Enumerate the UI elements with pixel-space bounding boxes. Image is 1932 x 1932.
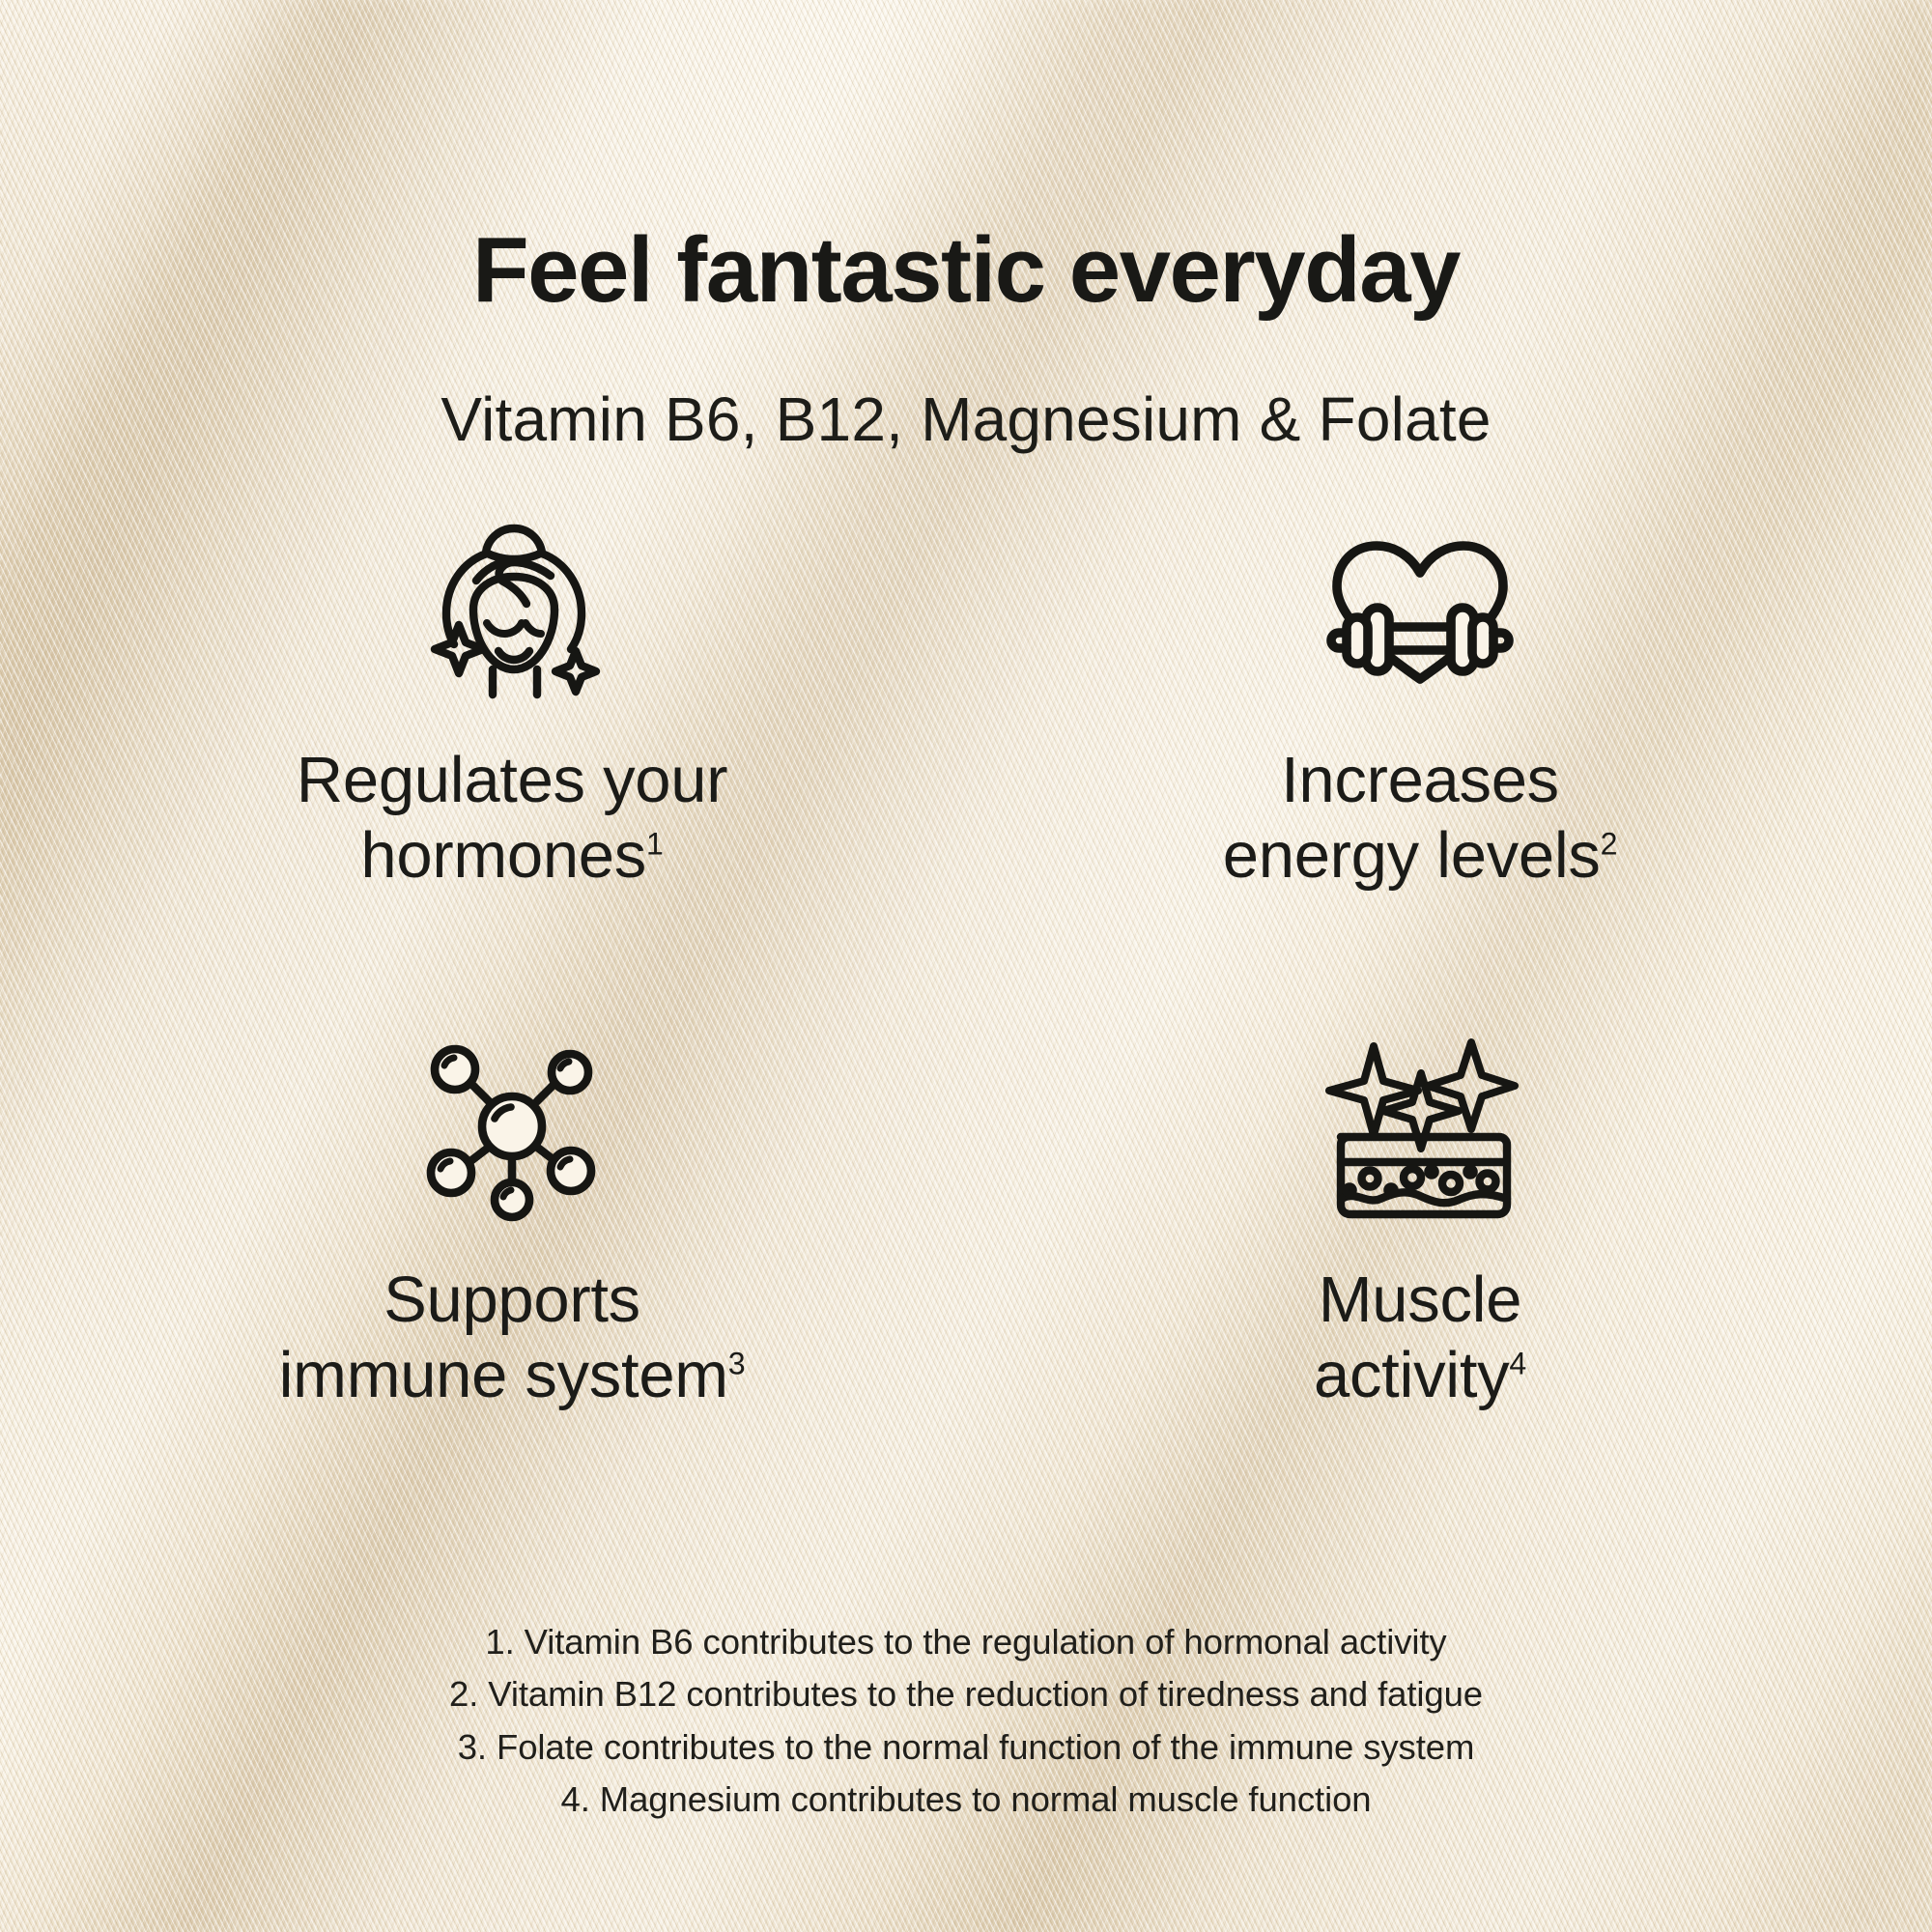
- benefit-label-line1: Supports: [384, 1264, 640, 1336]
- footnote-line: 2. Vitamin B12 contributes to the reduct…: [0, 1668, 1932, 1720]
- benefit-item-immune: Supports immune system3: [58, 1022, 966, 1428]
- footnote-line: 4. Magnesium contributes to normal muscl…: [0, 1774, 1932, 1826]
- heart-dumbbell-icon: [1325, 502, 1515, 710]
- footnote-marker: 3: [728, 1347, 746, 1381]
- molecule-icon: [415, 1022, 609, 1230]
- benefits-grid: Regulates your hormones1: [58, 502, 1874, 1428]
- footnotes-block: 1. Vitamin B6 contributes to the regulat…: [0, 1616, 1932, 1827]
- benefit-label-muscle: Muscle activity4: [1314, 1263, 1526, 1414]
- benefit-item-energy: Increases energy levels2: [966, 502, 1874, 908]
- footnote-marker: 4: [1509, 1347, 1526, 1381]
- benefit-label-line2: immune system: [279, 1339, 728, 1411]
- benefit-label-line1: Muscle: [1319, 1264, 1521, 1336]
- benefit-label-line1: Regulates your: [297, 744, 727, 816]
- benefit-label-immune: Supports immune system3: [279, 1263, 746, 1414]
- footnote-marker: 1: [646, 827, 664, 862]
- benefit-label-line1: Increases: [1281, 744, 1559, 816]
- benefit-label-line2: hormones: [360, 819, 646, 892]
- benefit-label-line2: energy levels: [1223, 819, 1601, 892]
- benefit-label-hormones: Regulates your hormones1: [297, 743, 727, 895]
- page-title: Feel fantastic everyday: [0, 224, 1932, 317]
- benefit-label-line2: activity: [1314, 1339, 1509, 1411]
- skin-tissue-sparkle-icon: [1320, 1022, 1520, 1230]
- product-benefits-poster: Feel fantastic everyday Vitamin B6, B12,…: [0, 0, 1932, 1932]
- footnote-line: 1. Vitamin B6 contributes to the regulat…: [0, 1616, 1932, 1668]
- benefit-item-hormones: Regulates your hormones1: [58, 502, 966, 908]
- footnote-marker: 2: [1601, 827, 1618, 862]
- benefit-label-energy: Increases energy levels2: [1223, 743, 1617, 895]
- benefit-item-muscle: Muscle activity4: [966, 1022, 1874, 1428]
- page-subtitle: Vitamin B6, B12, Magnesium & Folate: [0, 388, 1932, 450]
- footnote-line: 3. Folate contributes to the normal func…: [0, 1721, 1932, 1774]
- woman-face-spa-icon: [417, 502, 607, 710]
